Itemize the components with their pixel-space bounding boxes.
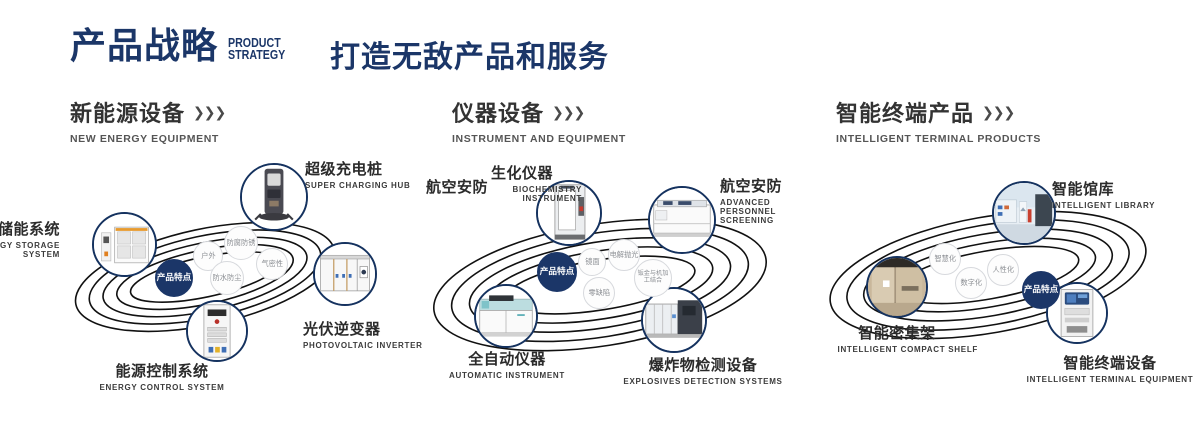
label-advanced-personnel-screening: 航空安防 ADVANCED PERSONNEL SCREENING bbox=[720, 175, 828, 225]
node-label-en: INTELLIGENT LIBRARY bbox=[1052, 201, 1155, 210]
node-label-en: EXPLOSIVES DETECTION SYSTEMS bbox=[618, 377, 788, 386]
label-intelligent-compact-shelf: 智能密集架 INTELLIGENT COMPACT SHELF bbox=[816, 322, 978, 354]
feature-bubble-3-2-text: 数字化 bbox=[960, 279, 982, 287]
feature-bubble-3-1-text: 智慧化 bbox=[934, 255, 956, 263]
label-intelligent-terminal-equipment: 智能终端设备 INTELLIGENT TERMINAL EQUIPMENT bbox=[1020, 352, 1200, 384]
node-label-cn: 超级充电桩 bbox=[305, 158, 411, 179]
feature-bubble-center-2: 产品特点 bbox=[537, 252, 577, 292]
node-label-en: INTELLIGENT TERMINAL EQUIPMENT bbox=[1020, 375, 1200, 384]
feature-bubble-1-3: 防水防尘 bbox=[210, 261, 244, 295]
label-energy-control-system: 能源控制系统 ENERGY CONTROL SYSTEM bbox=[82, 360, 242, 392]
node-label-cn: 智能馆库 bbox=[1052, 178, 1155, 199]
node-label-cn: 航空安防 bbox=[720, 175, 828, 196]
node-label-cn: 能源控制系统 bbox=[82, 360, 242, 381]
node-label-cn: 智能终端设备 bbox=[1020, 352, 1200, 373]
feature-bubble-center-3: 产品特点 bbox=[1022, 271, 1060, 309]
node-label-cn: 生化仪器 bbox=[462, 162, 582, 183]
advanced-personnel-screening-image bbox=[650, 188, 714, 252]
label-explosives-detection-systems: 爆炸物检测设备 EXPLOSIVES DETECTION SYSTEMS bbox=[618, 354, 788, 386]
feature-bubble-2-3-text: 零缺陷 bbox=[588, 289, 610, 297]
feature-bubble-2-1: 镜面 bbox=[578, 248, 606, 276]
node-label-en: BIOCHEMISTRY INSTRUMENT bbox=[462, 185, 582, 203]
feature-bubble-2-4-text: 钣金与机加工结合 bbox=[636, 272, 671, 285]
node-super-charging-hub[interactable] bbox=[240, 163, 308, 231]
node-label-en: SUPER CHARGING HUB bbox=[305, 181, 411, 190]
feature-bubble-1-2-text: 防腐防锈 bbox=[227, 239, 256, 247]
node-label-cn: 光伏逆变器 bbox=[303, 318, 423, 339]
feature-bubble-center-3-text: 产品特点 bbox=[1024, 285, 1059, 294]
label-photovoltaic-inverter: 光伏逆变器 PHOTOVOLTAIC INVERTER bbox=[303, 318, 423, 350]
photovoltaic-inverter-image bbox=[315, 244, 375, 304]
node-energy-storage-system[interactable] bbox=[92, 212, 157, 277]
feature-bubble-2-1-text: 镜面 bbox=[585, 258, 599, 266]
poster-canvas: 产品战略 PRODUCT STRATEGY 打造无敌产品和服务 新能源设备❯❯❯… bbox=[0, 0, 1200, 422]
feature-bubble-1-2: 防腐防锈 bbox=[224, 226, 258, 260]
feature-bubble-1-4: 气密性 bbox=[256, 248, 288, 280]
feature-bubble-center-1: 产品特点 bbox=[155, 259, 193, 297]
node-advanced-personnel-screening[interactable] bbox=[648, 186, 716, 254]
label-energy-storage-system: 储能系统 ENERGY STORAGE SYSTEM bbox=[0, 218, 60, 262]
node-label-en: AUTOMATIC INSTRUMENT bbox=[432, 371, 582, 380]
intelligent-compact-shelf-image bbox=[868, 258, 926, 316]
node-photovoltaic-inverter[interactable] bbox=[313, 242, 377, 306]
feature-bubble-3-1: 智慧化 bbox=[929, 243, 961, 275]
node-intelligent-compact-shelf[interactable] bbox=[866, 256, 928, 318]
label-biochemistry-instrument: 生化仪器 BIOCHEMISTRY INSTRUMENT bbox=[462, 162, 582, 203]
node-automatic-instrument[interactable] bbox=[474, 284, 538, 348]
node-intelligent-library[interactable] bbox=[992, 181, 1056, 245]
feature-bubble-3-3: 人性化 bbox=[987, 254, 1019, 286]
node-label-en: ENERGY STORAGE SYSTEM bbox=[0, 241, 60, 259]
feature-bubble-1-3-text: 防水防尘 bbox=[213, 274, 242, 282]
feature-bubble-3-2: 数字化 bbox=[955, 267, 987, 299]
intelligent-library-image bbox=[994, 183, 1054, 243]
node-label-en: PHOTOVOLTAIC INVERTER bbox=[303, 341, 423, 350]
feature-bubble-2-4: 钣金与机加工结合 bbox=[634, 259, 672, 297]
energy-control-system-image bbox=[188, 302, 246, 360]
node-label-cn: 储能系统 bbox=[0, 218, 60, 239]
node-label-en: INTELLIGENT COMPACT SHELF bbox=[816, 345, 978, 354]
node-label-en: ENERGY CONTROL SYSTEM bbox=[82, 383, 242, 392]
node-label-cn: 爆炸物检测设备 bbox=[618, 354, 788, 375]
feature-bubble-center-2-text: 产品特点 bbox=[540, 267, 575, 276]
label-intelligent-library: 智能馆库 INTELLIGENT LIBRARY bbox=[1052, 178, 1155, 210]
feature-bubble-2-3: 零缺陷 bbox=[583, 277, 615, 309]
node-label-en: ADVANCED PERSONNEL SCREENING bbox=[720, 198, 828, 225]
feature-bubble-2-2-text: 电解抛光 bbox=[610, 251, 639, 259]
feature-bubble-2-2: 电解抛光 bbox=[608, 239, 640, 271]
feature-bubble-3-3-text: 人性化 bbox=[992, 266, 1014, 274]
node-label-cn: 智能密集架 bbox=[816, 322, 978, 343]
label-super-charging-hub: 超级充电桩 SUPER CHARGING HUB bbox=[305, 158, 411, 190]
label-automatic-instrument: 全自动仪器 AUTOMATIC INSTRUMENT bbox=[432, 348, 582, 380]
feature-bubble-1-4-text: 气密性 bbox=[261, 260, 283, 268]
super-charging-hub-image bbox=[242, 165, 306, 229]
node-energy-control-system[interactable] bbox=[186, 300, 248, 362]
node-label-cn: 全自动仪器 bbox=[432, 348, 582, 369]
feature-bubble-center-1-text: 产品特点 bbox=[157, 273, 192, 282]
feature-bubble-1-1-text: 户外 bbox=[201, 252, 215, 260]
explosives-detection-systems-image bbox=[643, 289, 705, 351]
automatic-instrument-image bbox=[476, 286, 536, 346]
energy-storage-system-image bbox=[94, 214, 155, 275]
